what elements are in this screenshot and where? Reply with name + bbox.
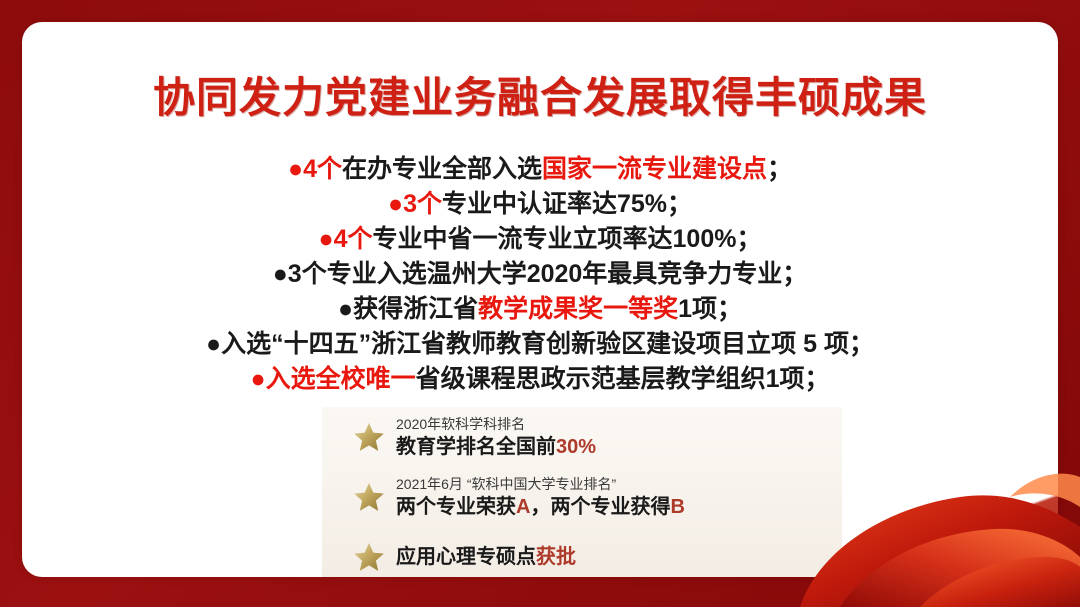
slide-root: 温州大学 协同发力党建业务融合发展取得丰硕成果 ●4个在办专业全部入选国家一流专… — [0, 0, 1080, 607]
star-icon — [352, 540, 386, 574]
text-segment: 教育学排名全国前 — [396, 436, 556, 458]
card-row-text: 2021年6月 “软科中国大学专业排名” 两个专业荣获A，两个专业获得B — [396, 475, 685, 520]
card-row-text: 2020年软科学科排名 教育学排名全国前30% — [396, 415, 596, 460]
text-segment: 获批 — [536, 546, 576, 568]
card-row-main: 应用心理专硕点获批 — [396, 544, 576, 570]
bullet-line: ●3个专业入选温州大学2020年最具竞争力专业； — [22, 257, 1058, 292]
text-segment: A — [516, 496, 530, 518]
card-row-caption: 2021年6月 “软科中国大学专业排名” — [396, 475, 685, 494]
star-icon — [352, 420, 386, 454]
star-icon — [352, 480, 386, 514]
text-segment: ，两个专业获得 — [530, 496, 670, 518]
text-segment: 1项； — [678, 295, 742, 323]
card-row: 应用心理专硕点获批 — [322, 527, 842, 577]
text-segment: B — [670, 496, 684, 518]
card-row-main: 两个专业荣获A，两个专业获得B — [396, 494, 685, 520]
text-segment: 应用心理专硕点 — [396, 546, 536, 568]
card-row-caption: 2020年软科学科排名 — [396, 415, 596, 434]
bullet-line: ●入选全校唯一省级课程思政示范基层教学组织1项； — [22, 362, 1058, 397]
text-segment: ●入选“十四五”浙江省教师教育创新验区建设项目立项 5 项； — [206, 330, 874, 358]
text-segment: ●4个 — [288, 155, 342, 183]
text-segment: ●入选全校唯一 — [250, 365, 415, 393]
white-content-panel: 温州大学 协同发力党建业务融合发展取得丰硕成果 ●4个在办专业全部入选国家一流专… — [22, 22, 1058, 577]
achievements-list: ●4个在办专业全部入选国家一流专业建设点； ●3个专业中认证率达75%； ●4个… — [22, 152, 1058, 397]
text-segment: ； — [767, 155, 792, 183]
watermark-text: 温州大学 — [870, 536, 938, 555]
text-segment: 在办专业全部入选 — [342, 155, 542, 183]
bullet-line: ●入选“十四五”浙江省教师教育创新验区建设项目立项 5 项； — [22, 327, 1058, 362]
text-segment: ●3个 — [388, 190, 442, 218]
bullet-line: ●4个专业中省一流专业立项率达100%； — [22, 222, 1058, 257]
page-title: 协同发力党建业务融合发展取得丰硕成果 — [22, 64, 1058, 125]
rankings-card: 2020年软科学科排名 教育学排名全国前30% 2021年6月 “软科中国大学专… — [322, 407, 842, 577]
text-segment: 专业中省一流专业立项率达100%； — [373, 225, 762, 253]
text-segment: ●3个专业入选温州大学2020年最具竞争力专业； — [273, 260, 808, 288]
card-row-text: 应用心理专硕点获批 — [396, 544, 576, 570]
text-segment: 两个专业荣获 — [396, 496, 516, 518]
card-row-main: 教育学排名全国前30% — [396, 434, 596, 460]
card-row: 2021年6月 “软科中国大学专业排名” 两个专业荣获A，两个专业获得B — [322, 467, 842, 527]
text-segment: 专业中认证率达75%； — [442, 190, 692, 218]
bullet-line: ●获得浙江省教学成果奖一等奖1项； — [22, 292, 1058, 327]
card-row: 2020年软科学科排名 教育学排名全国前30% — [322, 407, 842, 467]
text-segment: 30% — [556, 436, 596, 458]
text-segment: 省级课程思政示范基层教学组织1项； — [416, 365, 830, 393]
text-segment: ●4个 — [319, 225, 373, 253]
bullet-line: ●4个在办专业全部入选国家一流专业建设点； — [22, 152, 1058, 187]
text-segment: ●获得浙江省 — [338, 295, 478, 323]
text-segment: 国家一流专业建设点 — [542, 155, 767, 183]
text-segment: 教学成果奖一等奖 — [478, 295, 678, 323]
bullet-line: ●3个专业中认证率达75%； — [22, 187, 1058, 222]
